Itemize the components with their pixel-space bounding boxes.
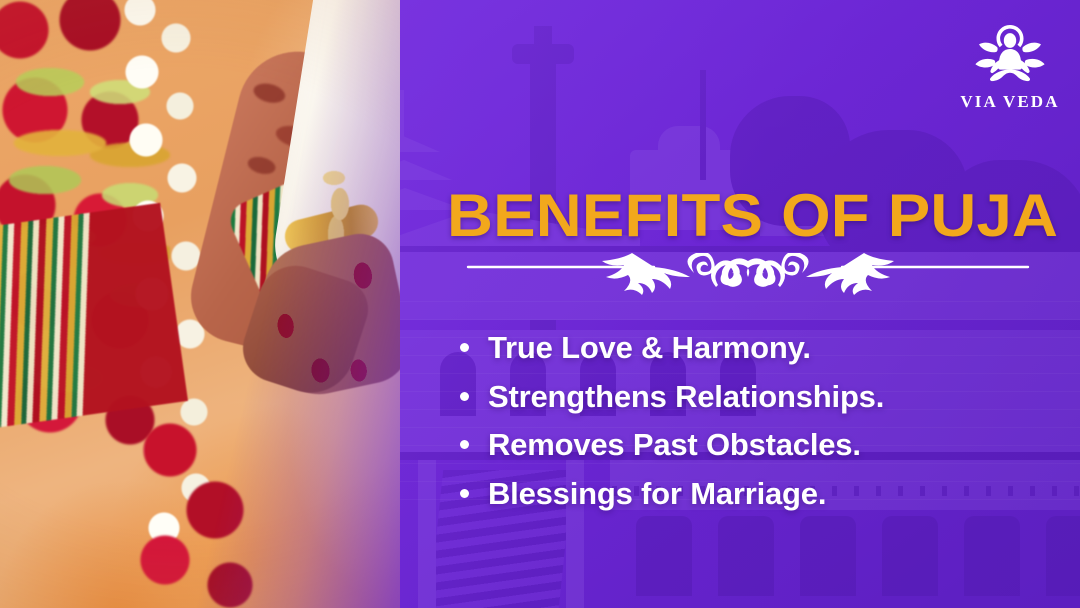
bullet-dot-icon bbox=[460, 489, 469, 498]
content-layer: BENEFITS OF PUJA bbox=[0, 0, 1080, 608]
bullet-dot-icon bbox=[460, 343, 469, 352]
list-item: Blessings for Marriage. bbox=[458, 476, 1058, 512]
bullet-dot-icon bbox=[460, 392, 469, 401]
brand-logo[interactable]: VIA VEDA bbox=[955, 22, 1065, 122]
benefits-of-puja-banner: BENEFITS OF PUJA bbox=[0, 0, 1080, 608]
flourish-divider-icon bbox=[458, 253, 1038, 297]
ornamental-divider bbox=[448, 252, 1048, 298]
page-title: BENEFITS OF PUJA bbox=[447, 186, 1058, 246]
benefit-text: True Love & Harmony. bbox=[488, 330, 811, 365]
brand-name: VIA VEDA bbox=[960, 92, 1059, 112]
benefit-text: Blessings for Marriage. bbox=[488, 476, 826, 511]
benefit-text: Strengthens Relationships. bbox=[488, 379, 884, 414]
benefits-list: True Love & Harmony. Strengthens Relatio… bbox=[458, 330, 1058, 512]
list-item: True Love & Harmony. bbox=[458, 330, 1058, 366]
meditating-lotus-figure-icon bbox=[968, 22, 1052, 90]
list-item: Strengthens Relationships. bbox=[458, 379, 1058, 415]
list-item: Removes Past Obstacles. bbox=[458, 427, 1058, 463]
benefit-text: Removes Past Obstacles. bbox=[488, 427, 861, 462]
bullet-dot-icon bbox=[460, 440, 469, 449]
